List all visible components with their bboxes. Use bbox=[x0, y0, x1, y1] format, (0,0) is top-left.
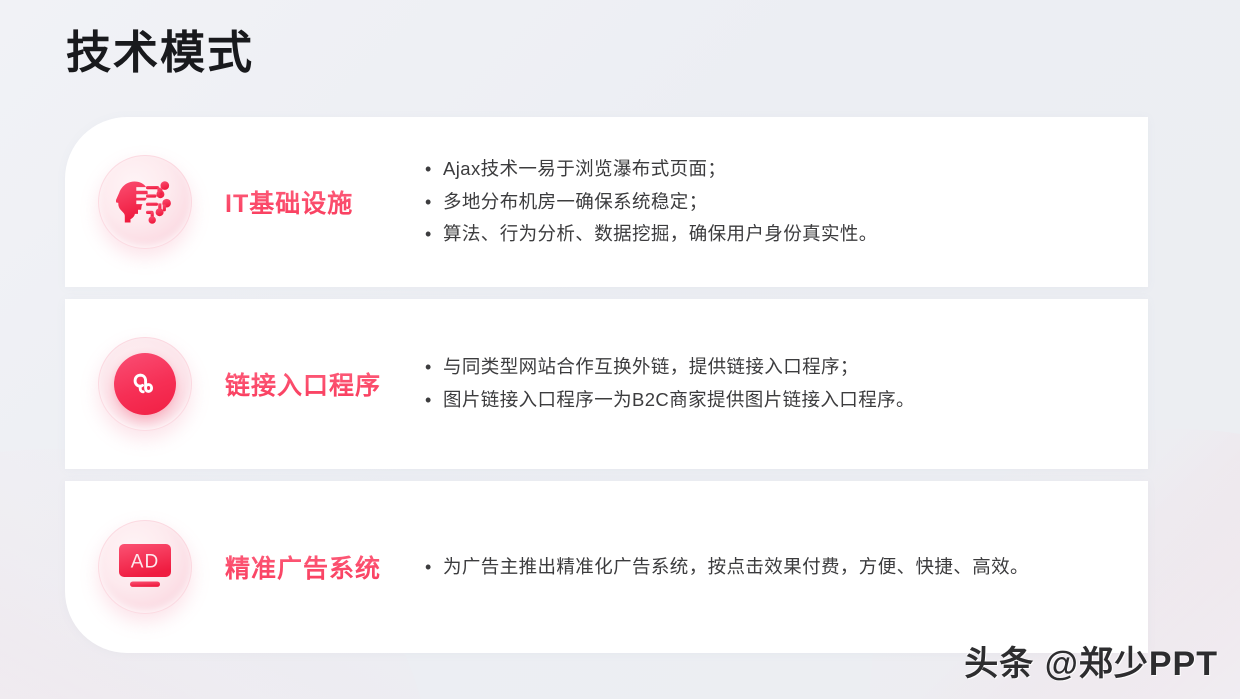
ai-head-circuit-icon bbox=[98, 155, 192, 249]
bullet-list: • 为广告主推出精准化广告系统，按点击效果付费，方便、快捷、高效。 bbox=[425, 551, 1148, 584]
list-item: • 算法、行为分析、数据挖掘，确保用户身份真实性。 bbox=[425, 218, 1118, 251]
card-it-infrastructure[interactable]: IT基础设施 • Ajax技术一易于浏览瀑布式页面； • 多地分布机房一确保系统… bbox=[65, 117, 1148, 287]
bullet-list: • 与同类型网站合作互换外链，提供链接入口程序； • 图片链接入口程序一为B2C… bbox=[425, 351, 1148, 417]
bullet-text: 多地分布机房一确保系统稳定； bbox=[443, 186, 1118, 219]
bullet-text: Ajax技术一易于浏览瀑布式页面； bbox=[443, 153, 1118, 186]
bullet-dot-icon: • bbox=[425, 218, 443, 250]
watermark: 头条 @郑少PPT bbox=[964, 636, 1218, 685]
ad-billboard-icon: AD bbox=[98, 520, 192, 614]
icon-container: AD bbox=[65, 482, 225, 652]
list-item: • 图片链接入口程序一为B2C商家提供图片链接入口程序。 bbox=[425, 384, 1118, 417]
bullet-dot-icon: • bbox=[425, 351, 443, 383]
svg-text:AD: AD bbox=[131, 552, 159, 573]
mini-program-icon bbox=[98, 337, 192, 431]
bullet-dot-icon: • bbox=[425, 153, 443, 185]
bullet-dot-icon: • bbox=[425, 384, 443, 416]
mini-program-circle bbox=[114, 353, 176, 415]
card-title: 链接入口程序 bbox=[225, 366, 425, 402]
bullet-text: 为广告主推出精准化广告系统，按点击效果付费，方便、快捷、高效。 bbox=[443, 551, 1118, 584]
list-item: • 多地分布机房一确保系统稳定； bbox=[425, 186, 1118, 219]
card-title: IT基础设施 bbox=[225, 184, 425, 220]
bullet-list: • Ajax技术一易于浏览瀑布式页面； • 多地分布机房一确保系统稳定； • 算… bbox=[425, 153, 1148, 252]
page-title: 技术模式 bbox=[66, 30, 254, 75]
list-item: • 与同类型网站合作互换外链，提供链接入口程序； bbox=[425, 351, 1118, 384]
icon-container bbox=[65, 299, 225, 469]
bullet-text: 图片链接入口程序一为B2C商家提供图片链接入口程序。 bbox=[443, 384, 1118, 417]
bullet-dot-icon: • bbox=[425, 186, 443, 218]
list-item: • 为广告主推出精准化广告系统，按点击效果付费，方便、快捷、高效。 bbox=[425, 551, 1118, 584]
card-title: 精准广告系统 bbox=[225, 549, 425, 585]
bullet-text: 与同类型网站合作互换外链，提供链接入口程序； bbox=[443, 351, 1118, 384]
card-list: IT基础设施 • Ajax技术一易于浏览瀑布式页面； • 多地分布机房一确保系统… bbox=[65, 117, 1148, 653]
card-link-entry-program[interactable]: 链接入口程序 • 与同类型网站合作互换外链，提供链接入口程序； • 图片链接入口… bbox=[65, 299, 1148, 469]
icon-container bbox=[65, 117, 225, 287]
card-precision-ad-system[interactable]: AD 精准广告系统 • 为广告主推出精准化广告系统，按点击效果付费，方便、快捷、… bbox=[65, 481, 1148, 653]
list-item: • Ajax技术一易于浏览瀑布式页面； bbox=[425, 153, 1118, 186]
bullet-dot-icon: • bbox=[425, 551, 443, 583]
bullet-text: 算法、行为分析、数据挖掘，确保用户身份真实性。 bbox=[443, 218, 1118, 251]
slide-canvas: 技术模式 bbox=[0, 0, 1240, 699]
